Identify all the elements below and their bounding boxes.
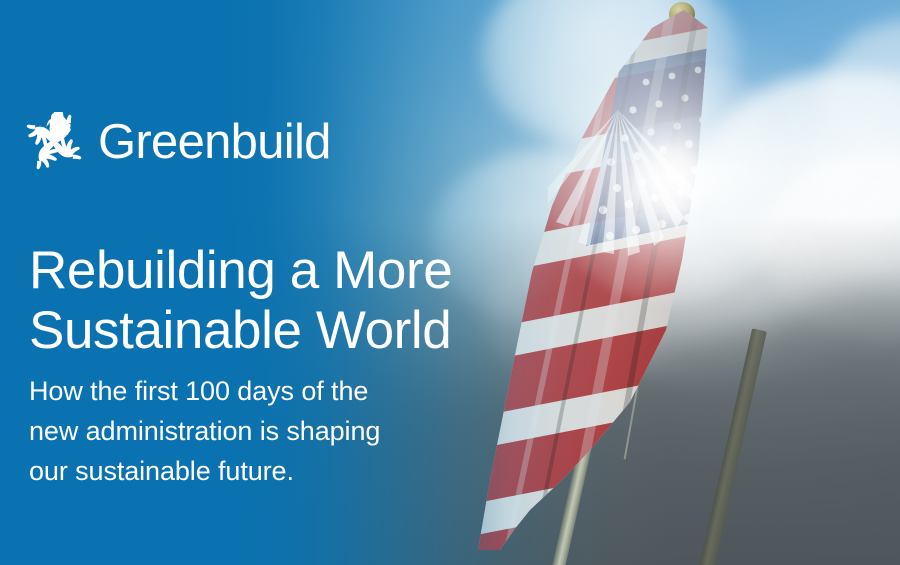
- subhead-line-1: How the first 100 days of the: [29, 371, 499, 411]
- subhead-line-3: our sustainable future.: [29, 451, 499, 491]
- page-title: Rebuilding a More Sustainable World: [29, 241, 569, 361]
- oak-leaf-circle-icon: [24, 112, 84, 172]
- banner-content: Greenbuild Rebuilding a More Sustainable…: [0, 0, 900, 565]
- subhead-line-2: new administration is shaping: [29, 411, 499, 451]
- headline-line-2: Sustainable World: [29, 301, 569, 361]
- greenbuild-wordmark: Greenbuild: [98, 118, 331, 167]
- greenbuild-logo[interactable]: Greenbuild: [24, 112, 331, 172]
- headline-line-1: Rebuilding a More: [29, 241, 569, 301]
- page-subtitle: How the first 100 days of the new admini…: [29, 371, 499, 491]
- greenbuild-promo-banner: Greenbuild Rebuilding a More Sustainable…: [0, 0, 900, 565]
